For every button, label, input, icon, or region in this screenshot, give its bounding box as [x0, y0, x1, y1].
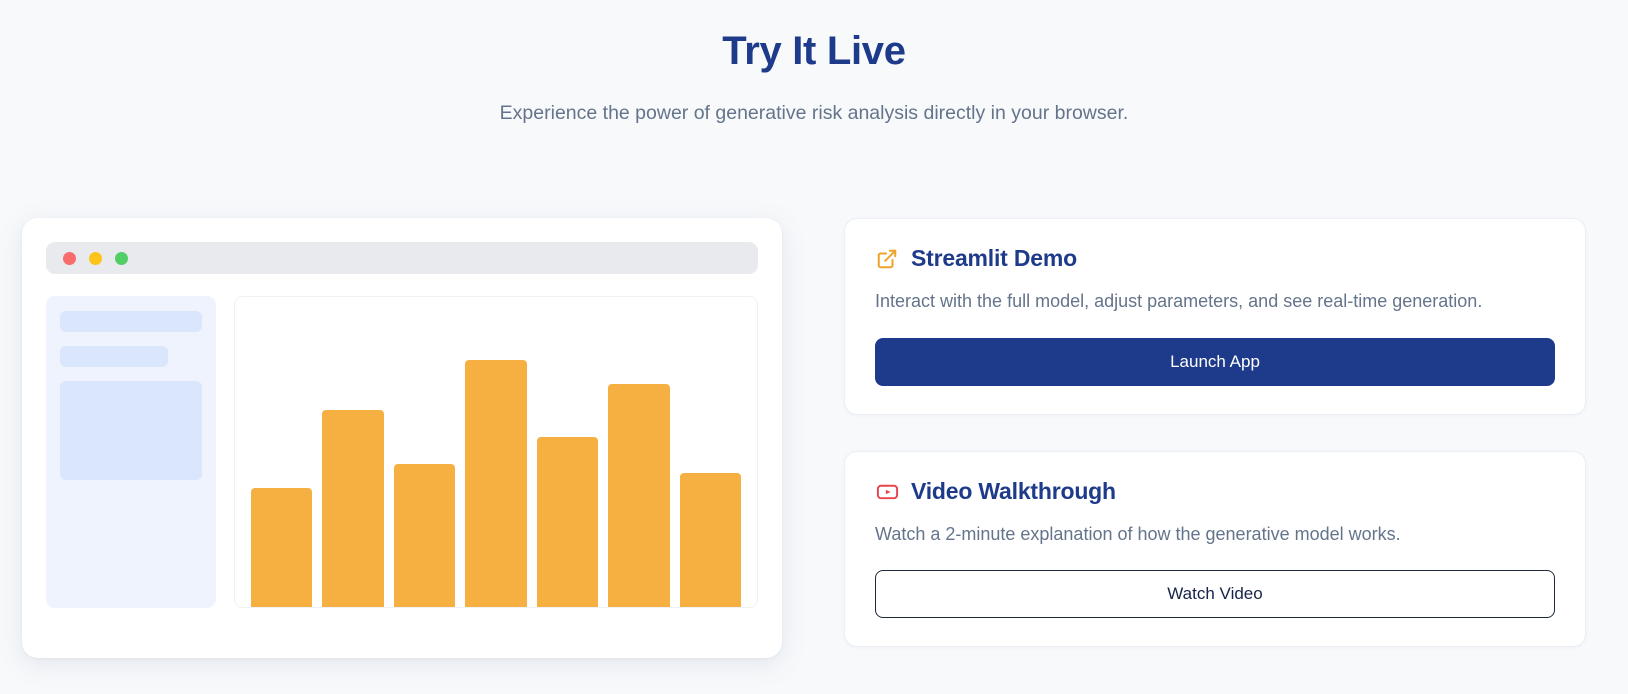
youtube-play-icon: [875, 479, 899, 503]
maximize-dot[interactable]: [115, 252, 128, 265]
bar-7: [680, 473, 741, 607]
skeleton-block: [60, 381, 202, 480]
streamlit-demo-card: Streamlit Demo Interact with the full mo…: [844, 218, 1586, 415]
watch-video-button[interactable]: Watch Video: [875, 570, 1555, 618]
info-cards-column: Streamlit Demo Interact with the full mo…: [844, 218, 1586, 647]
page-title: Try It Live: [0, 28, 1628, 74]
streamlit-demo-title: Streamlit Demo: [911, 245, 1077, 272]
browser-chrome-bar: [46, 242, 758, 274]
external-link-icon: [875, 247, 899, 271]
try-it-live-section: Try It Live Experience the power of gene…: [0, 0, 1628, 694]
mock-chart-card: [234, 296, 758, 608]
section-header: Try It Live Experience the power of gene…: [0, 0, 1628, 127]
bar-chart: [251, 309, 741, 607]
minimize-dot[interactable]: [89, 252, 102, 265]
mockup-column: [22, 218, 782, 658]
launch-app-button[interactable]: Launch App: [875, 338, 1555, 386]
browser-viewport: [46, 296, 758, 626]
bar-4: [465, 360, 526, 607]
bar-5: [537, 437, 598, 607]
streamlit-demo-header: Streamlit Demo: [875, 245, 1555, 272]
browser-mockup: [22, 218, 782, 658]
skeleton-wide: [60, 311, 202, 332]
close-dot[interactable]: [63, 252, 76, 265]
video-walkthrough-header: Video Walkthrough: [875, 478, 1555, 505]
skeleton-medium: [60, 346, 168, 367]
streamlit-demo-description: Interact with the full model, adjust par…: [875, 288, 1535, 316]
bar-3: [394, 464, 455, 607]
page-subtitle: Experience the power of generative risk …: [0, 100, 1628, 127]
bar-6: [608, 384, 669, 608]
video-walkthrough-card: Video Walkthrough Watch a 2-minute expla…: [844, 451, 1586, 648]
mock-app-sidebar: [46, 296, 216, 608]
bar-1: [251, 488, 312, 607]
video-walkthrough-title: Video Walkthrough: [911, 478, 1116, 505]
content-row: Streamlit Demo Interact with the full mo…: [0, 218, 1628, 658]
video-walkthrough-description: Watch a 2-minute explanation of how the …: [875, 521, 1535, 549]
bar-2: [322, 410, 383, 607]
